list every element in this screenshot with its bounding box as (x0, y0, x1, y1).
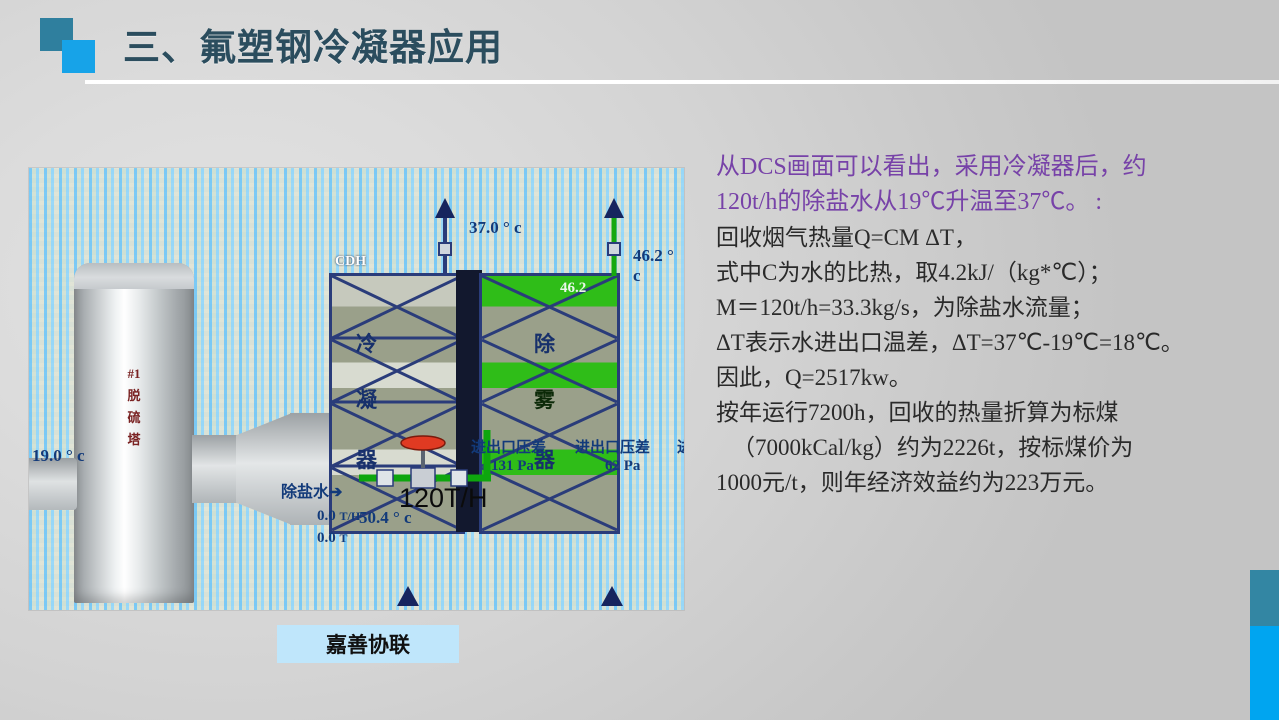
body-line: （7000kCal/kg）约为2226t，按标煤价为 (716, 430, 1246, 465)
water-rate-unit: T/H (340, 509, 361, 523)
body-line: 1000元/t，则年经济效益约为223万元。 (716, 465, 1246, 500)
condenser-outlet-arrow-icon (141, 271, 159, 289)
condenser-dp-value: 131 Pa (491, 458, 534, 475)
condenser-label-char: 凝 (356, 384, 377, 414)
gas-duct (192, 435, 238, 503)
dcs-screenshot: #1 脱 硫 塔 冷 凝 器 (29, 168, 684, 610)
bottom-arrow-left-icon (397, 586, 419, 608)
slide-header: 三、氟塑钢冷凝器应用 (0, 0, 1279, 90)
demister-inner-temp: 46.2 (560, 280, 586, 297)
water-inlet-temp: 19.0 ° c (32, 446, 85, 466)
water-total-value: 0.0 (317, 530, 336, 546)
water-rate-row: 0.0 T/H (317, 508, 360, 525)
page-title: 三、氟塑钢冷凝器应用 (123, 17, 503, 71)
condenser-label-char: 冷 (356, 328, 377, 358)
body-line: 从DCS画面可以看出，采用冷凝器后，约 (716, 150, 1246, 185)
tower-top-cap (74, 263, 194, 289)
demister-outlet-temp: 46.2 ° c (633, 246, 684, 286)
decor-square-bright-icon (62, 40, 95, 73)
bottom-arrow-right-icon (601, 586, 623, 608)
body-line: 120t/h的除盐水从19℃升温至37℃。 : (716, 185, 1246, 220)
demister-label-char: 雾 (534, 384, 555, 414)
tower-label-line: 塔 (117, 429, 151, 451)
body-line: 式中C为水的比热，取4.2kJ/（kg*℃）； (716, 255, 1246, 290)
condenser-outlet-arrow-icon (435, 198, 455, 276)
image-caption: 嘉善协联 (277, 625, 459, 663)
body-line: M＝120t/h=33.3kg/s，为除盐水流量； (716, 290, 1246, 325)
slide-root: 三、氟塑钢冷凝器应用 #1 脱 硫 塔 (0, 0, 1279, 720)
condenser-outlet-temp: 37.0 ° c (469, 218, 522, 238)
accent-block-blue (1250, 626, 1279, 720)
body-line: 按年运行7200h，回收的热量折算为标煤 (716, 395, 1246, 430)
water-flow-arrow-icon: ➔ (329, 484, 342, 501)
third-dp-label-partial: 进 (677, 436, 684, 457)
water-stream-name: 除盐水 (281, 484, 329, 501)
demister-dp-label: 进出口压差 (575, 436, 650, 457)
tower-label-line: 脱 (117, 385, 151, 407)
body-line: 因此，Q=2517kw。 (716, 360, 1246, 395)
water-stream-label: 除盐水➔ (281, 478, 342, 502)
accent-block-teal (1250, 570, 1279, 626)
demister-dp-value: 62 Pa (605, 458, 640, 475)
body-text-column: 从DCS画面可以看出，采用冷凝器后，约 120t/h的除盐水从19℃升温至37℃… (716, 150, 1246, 500)
water-total-unit: T (340, 531, 348, 545)
water-total-row: 0.0 T (317, 530, 348, 547)
tower-label: #1 脱 硫 塔 (117, 363, 151, 451)
tower-label-line: 硫 (117, 407, 151, 429)
water-flow-display: 120T/H (399, 483, 488, 514)
gas-duct-expansion (236, 413, 292, 525)
header-divider (85, 80, 1279, 84)
water-rate-value: 0.0 (317, 508, 336, 524)
body-line: 回收烟气热量Q=CM ΔT， (716, 220, 1246, 255)
condenser-tag: CDH (335, 254, 366, 270)
demister-label-char: 除 (534, 328, 555, 358)
condenser-dp-label: 进出口压差 (471, 436, 546, 457)
demister-outlet-arrow-icon (604, 198, 624, 276)
tower-label-line: #1 (117, 363, 151, 385)
demister-vessel: 除 雾 器 46.2 (479, 273, 620, 534)
body-line: ΔT表示水进出口温差，ΔT=37℃-19℃=18℃。 (716, 325, 1246, 360)
